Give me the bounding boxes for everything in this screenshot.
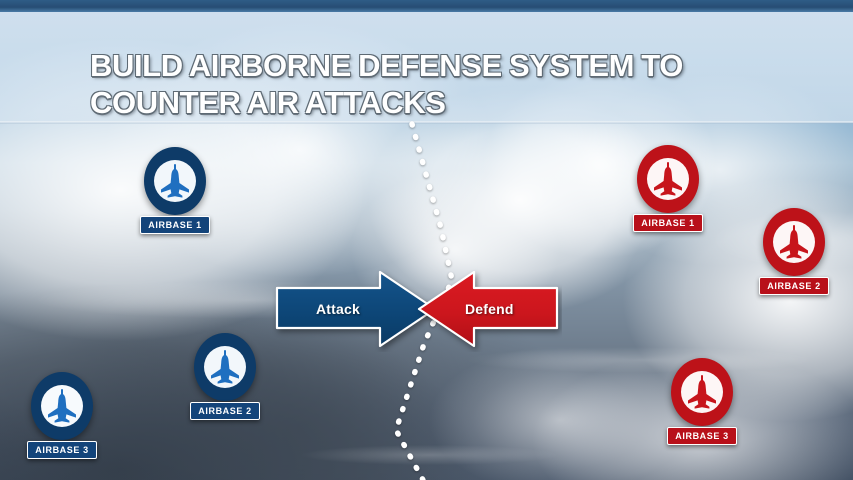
marker-tag-wrap: AIRBASE 3 bbox=[25, 440, 99, 459]
defend-arrow-label: Defend bbox=[465, 301, 514, 317]
marker-label: AIRBASE 1 bbox=[633, 214, 702, 232]
marker-disc bbox=[144, 147, 206, 215]
marker-tag-wrap: AIRBASE 1 bbox=[631, 213, 705, 232]
marker-tag-wrap: AIRBASE 1 bbox=[138, 215, 212, 234]
fighter-jet-icon bbox=[39, 383, 85, 429]
marker-tag-wrap: AIRBASE 2 bbox=[757, 276, 831, 295]
title-banner-edge bbox=[0, 121, 853, 124]
marker-tag-wrap: AIRBASE 2 bbox=[188, 401, 262, 420]
marker-label: AIRBASE 3 bbox=[27, 441, 96, 459]
fighter-jet-icon bbox=[152, 158, 198, 204]
attack-arrow-label: Attack bbox=[316, 301, 360, 317]
page-title-line-1: BUILD AIRBORNE DEFENSE SYSTEM TO bbox=[90, 47, 810, 84]
airbase-marker-red-2[interactable]: AIRBASE 2 bbox=[757, 208, 831, 295]
marker-tag-wrap: AIRBASE 3 bbox=[665, 426, 739, 445]
top-accent-strip bbox=[0, 0, 853, 12]
airbase-marker-blue-2[interactable]: AIRBASE 2 bbox=[188, 333, 262, 420]
marker-label: AIRBASE 1 bbox=[140, 216, 209, 234]
page-title: BUILD AIRBORNE DEFENSE SYSTEM TO COUNTER… bbox=[90, 47, 810, 121]
airbase-marker-red-3[interactable]: AIRBASE 3 bbox=[665, 358, 739, 445]
marker-disc bbox=[671, 358, 733, 426]
airbase-marker-blue-1[interactable]: AIRBASE 1 bbox=[138, 147, 212, 234]
marker-label: AIRBASE 2 bbox=[190, 402, 259, 420]
marker-label: AIRBASE 2 bbox=[759, 277, 828, 295]
airbase-marker-blue-3[interactable]: AIRBASE 3 bbox=[25, 372, 99, 459]
marker-label: AIRBASE 3 bbox=[667, 427, 736, 445]
marker-disc bbox=[637, 145, 699, 213]
marker-disc bbox=[763, 208, 825, 276]
fighter-jet-icon bbox=[679, 369, 725, 415]
fighter-jet-icon bbox=[645, 156, 691, 202]
fighter-jet-icon bbox=[771, 219, 817, 265]
marker-disc bbox=[31, 372, 93, 440]
page-title-line-2: COUNTER AIR ATTACKS bbox=[90, 84, 810, 121]
slide-canvas: BUILD AIRBORNE DEFENSE SYSTEM TO COUNTER… bbox=[0, 0, 853, 480]
fighter-jet-icon bbox=[202, 344, 248, 390]
airbase-marker-red-1[interactable]: AIRBASE 1 bbox=[631, 145, 705, 232]
marker-disc bbox=[194, 333, 256, 401]
